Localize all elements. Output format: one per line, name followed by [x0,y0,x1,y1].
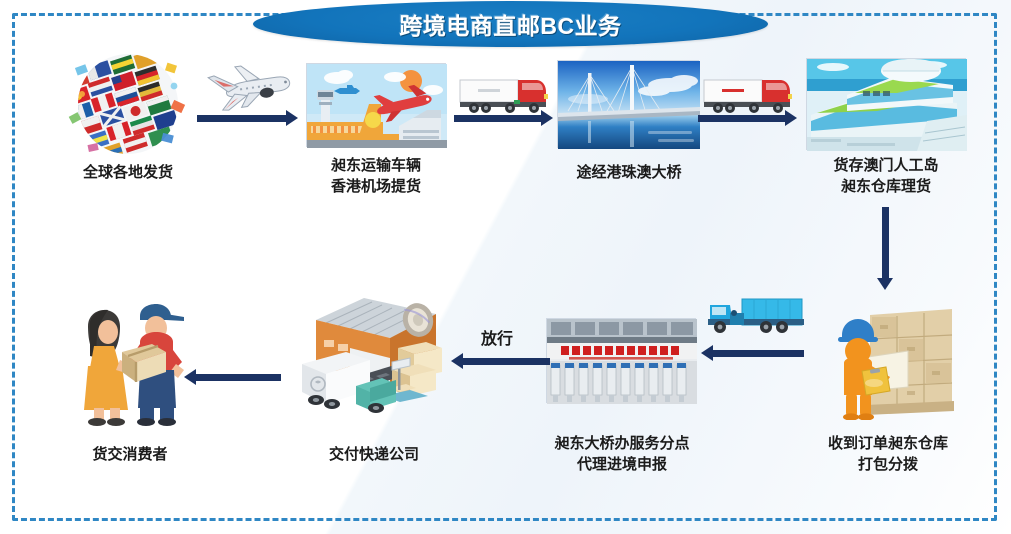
arrow-step6-to-step7 [462,358,550,365]
release-arrow-label: 放行 [481,325,513,349]
title-banner: 跨境电商直邮BC业务 [253,1,768,47]
connector-plane-icon [200,58,300,118]
cable-stayed-bridge-icon [558,61,700,149]
arrow-step4-to-step5 [882,207,889,279]
step-6-image [546,318,696,403]
step-3-image [557,60,699,148]
step-8-caption: 货交消费者 [54,444,206,465]
step-1-caption: 全球各地发货 [52,162,204,183]
airplane-icon [200,58,300,118]
step-4-caption: 货存澳门人工岛 昶东仓库理货 [806,155,966,197]
connector-truck-blue-icon [702,295,806,343]
warehouse-dispatch-isometric-icon [286,292,450,422]
step-5-image [812,295,962,420]
page-title: 跨境电商直邮BC业务 [399,7,621,41]
step-2-caption: 昶东运输车辆 香港机场提货 [300,155,452,197]
arrow-step5-to-step6 [712,350,804,357]
arrow-step3-to-step4 [698,115,786,122]
step-8-image [66,300,194,428]
diagram-canvas: 跨境电商直邮BC业务 [0,0,1011,534]
artificial-island-building-icon [807,59,967,151]
step-1-image [62,48,194,160]
step-5-caption: 收到订单昶东仓库 打包分拨 [806,433,970,475]
step-2-image [306,63,446,147]
blue-container-truck-icon [702,295,806,343]
airport-terminal-icon [307,64,447,148]
step-4-image [806,58,966,150]
red-truck-icon [702,72,796,118]
white-truck-icon [458,72,552,118]
step-7-caption: 交付快递公司 [298,444,450,465]
connector-truck-red-icon [702,72,796,118]
arrow-step7-to-step8 [195,374,281,381]
step-6-caption: 昶东大桥办服务分点 代理进境申报 [527,433,717,475]
arrow-step1-to-step2 [197,115,287,122]
step-3-caption: 途经港珠澳大桥 [551,162,707,183]
world-flags-globe-icon [62,48,194,160]
courier-handing-parcel-icon [66,300,194,428]
arrow-step2-to-step3 [454,115,542,122]
step-7-image [286,292,450,422]
border-checkpoint-icon [547,319,697,404]
connector-truck-white-icon [458,72,552,118]
warehouse-worker-pallet-icon [812,295,962,420]
